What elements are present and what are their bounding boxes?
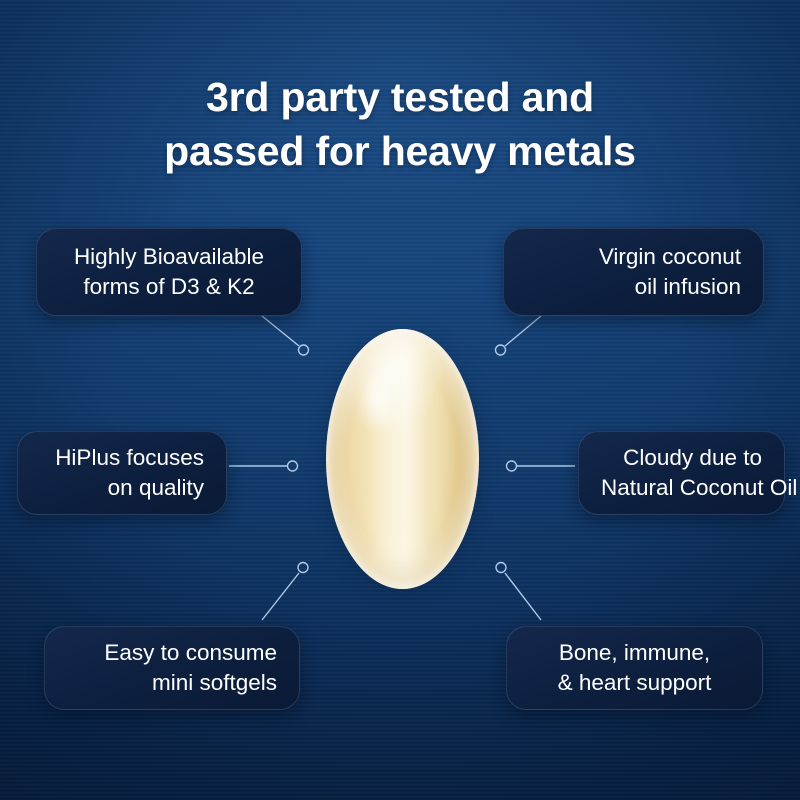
connector-line-softgels — [262, 573, 299, 620]
feature-card-bioavailable-line-1: Highly Bioavailable — [59, 242, 279, 272]
connector-dot-coconut-oil — [496, 345, 506, 355]
feature-card-coconut-oil-line-1: Virgin coconut — [526, 242, 741, 272]
connector-dot-quality — [288, 461, 298, 471]
feature-card-softgels-line-2: mini softgels — [67, 668, 277, 698]
feature-card-support-line-1: Bone, immune, — [529, 638, 740, 668]
connector-dot-cloudy — [507, 461, 517, 471]
product-image — [326, 329, 479, 589]
connector-line-bioavailable — [262, 316, 299, 346]
feature-card-bioavailable-line-2: forms of D3 & K2 — [59, 272, 279, 302]
connector-line-coconut-oil — [505, 316, 541, 346]
connector-line-support — [505, 573, 541, 620]
feature-card-support-line-2: & heart support — [529, 668, 740, 698]
infographic-canvas: 3rd party tested and passed for heavy me… — [0, 0, 800, 800]
connector-dot-bioavailable — [299, 345, 309, 355]
feature-card-quality-line-1: HiPlus focuses — [40, 443, 204, 473]
feature-card-cloudy-line-1: Cloudy due to — [601, 443, 762, 473]
page-title: 3rd party tested and passed for heavy me… — [0, 71, 800, 178]
feature-card-softgels-line-1: Easy to consume — [67, 638, 277, 668]
feature-card-support: Bone, immune, & heart support — [506, 626, 763, 710]
feature-card-quality: HiPlus focuses on quality — [17, 431, 227, 515]
feature-card-cloudy: Cloudy due to Natural Coconut Oil — [578, 431, 785, 515]
connector-dot-support — [496, 563, 506, 573]
softgel-highlight — [352, 351, 404, 447]
feature-card-softgels: Easy to consume mini softgels — [44, 626, 300, 710]
softgel-bottom-glow — [360, 521, 442, 573]
page-title-line-2: passed for heavy metals — [0, 125, 800, 178]
connector-dot-softgels — [298, 563, 308, 573]
page-title-line-1: 3rd party tested and — [0, 71, 800, 124]
feature-card-quality-line-2: on quality — [40, 473, 204, 503]
feature-card-coconut-oil: Virgin coconut oil infusion — [503, 228, 764, 316]
feature-card-coconut-oil-line-2: oil infusion — [526, 272, 741, 302]
softgel-capsule — [326, 329, 479, 589]
feature-card-bioavailable: Highly Bioavailable forms of D3 & K2 — [36, 228, 302, 316]
feature-card-cloudy-line-2: Natural Coconut Oil — [601, 473, 762, 503]
